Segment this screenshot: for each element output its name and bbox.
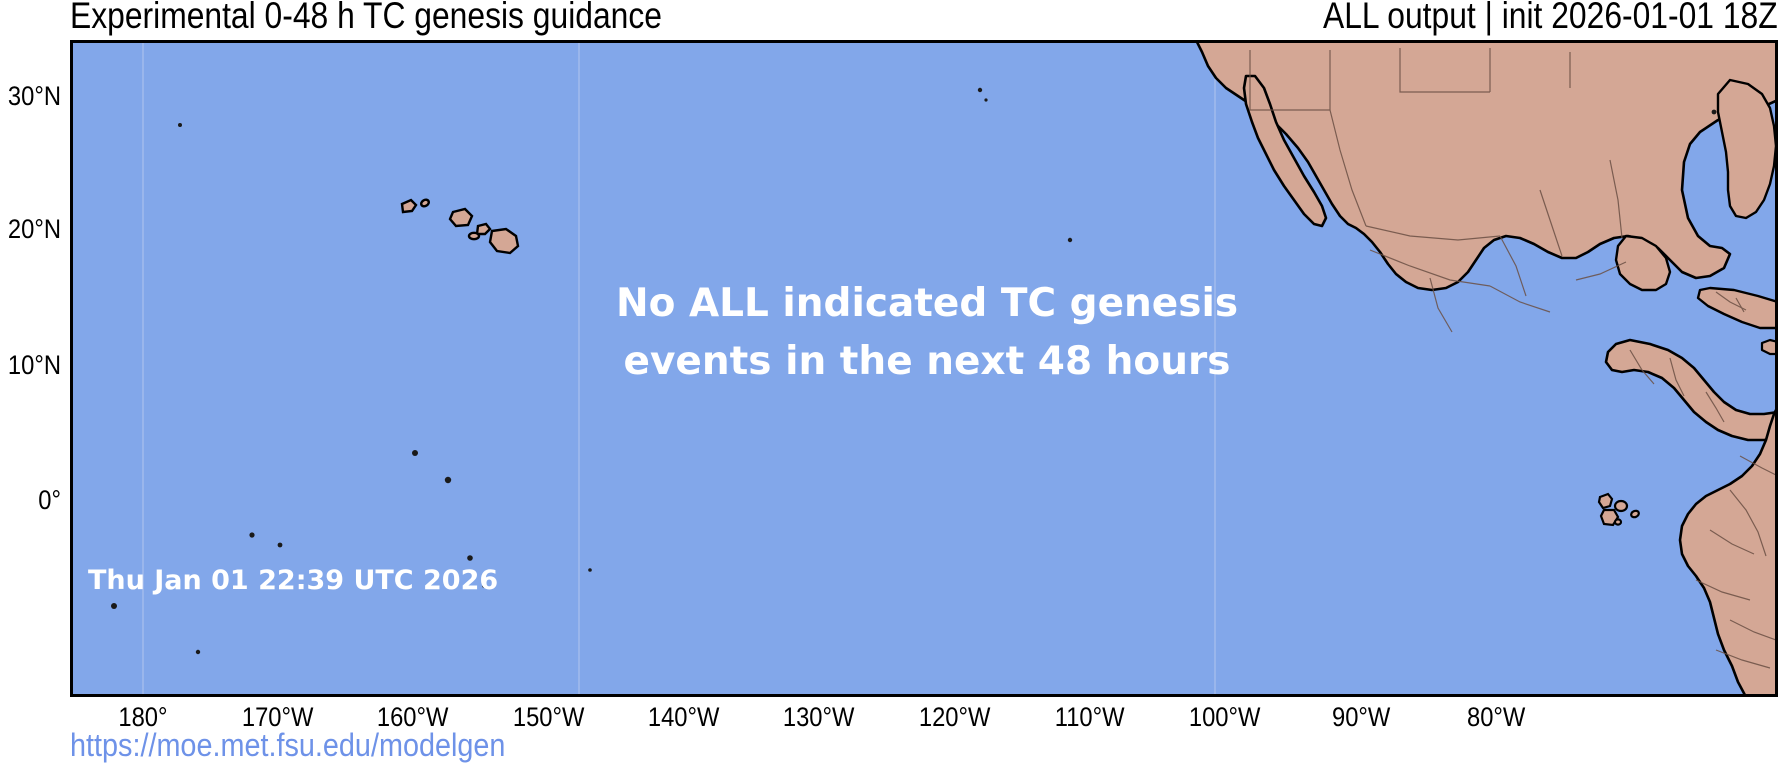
title-model-init: ALL output | init 2026-01-01 18Z xyxy=(1323,0,1778,36)
x-axis-tick-80w: 80°W xyxy=(1406,702,1586,732)
y-axis-tick-20n: 20°N xyxy=(0,216,61,243)
figure-root: Experimental 0-48 h TC genesis guidance … xyxy=(0,0,1789,768)
map-timestamp: Thu Jan 01 22:39 UTC 2026 xyxy=(88,565,498,596)
source-url-link[interactable]: https://moe.met.fsu.edu/modelgen xyxy=(70,728,505,762)
y-axis-tick-30n: 30°N xyxy=(0,83,61,110)
map-plot-area[interactable]: No ALL indicated TC genesis events in th… xyxy=(70,40,1778,697)
land-jamaica xyxy=(1762,340,1778,354)
figure-title-row: Experimental 0-48 h TC genesis guidance … xyxy=(0,0,1789,40)
map-geography xyxy=(70,40,1778,697)
page-title: Experimental 0-48 h TC genesis guidance xyxy=(70,0,662,36)
y-axis-tick-0: 0° xyxy=(0,487,61,514)
y-axis-tick-10n: 10°N xyxy=(0,352,61,379)
